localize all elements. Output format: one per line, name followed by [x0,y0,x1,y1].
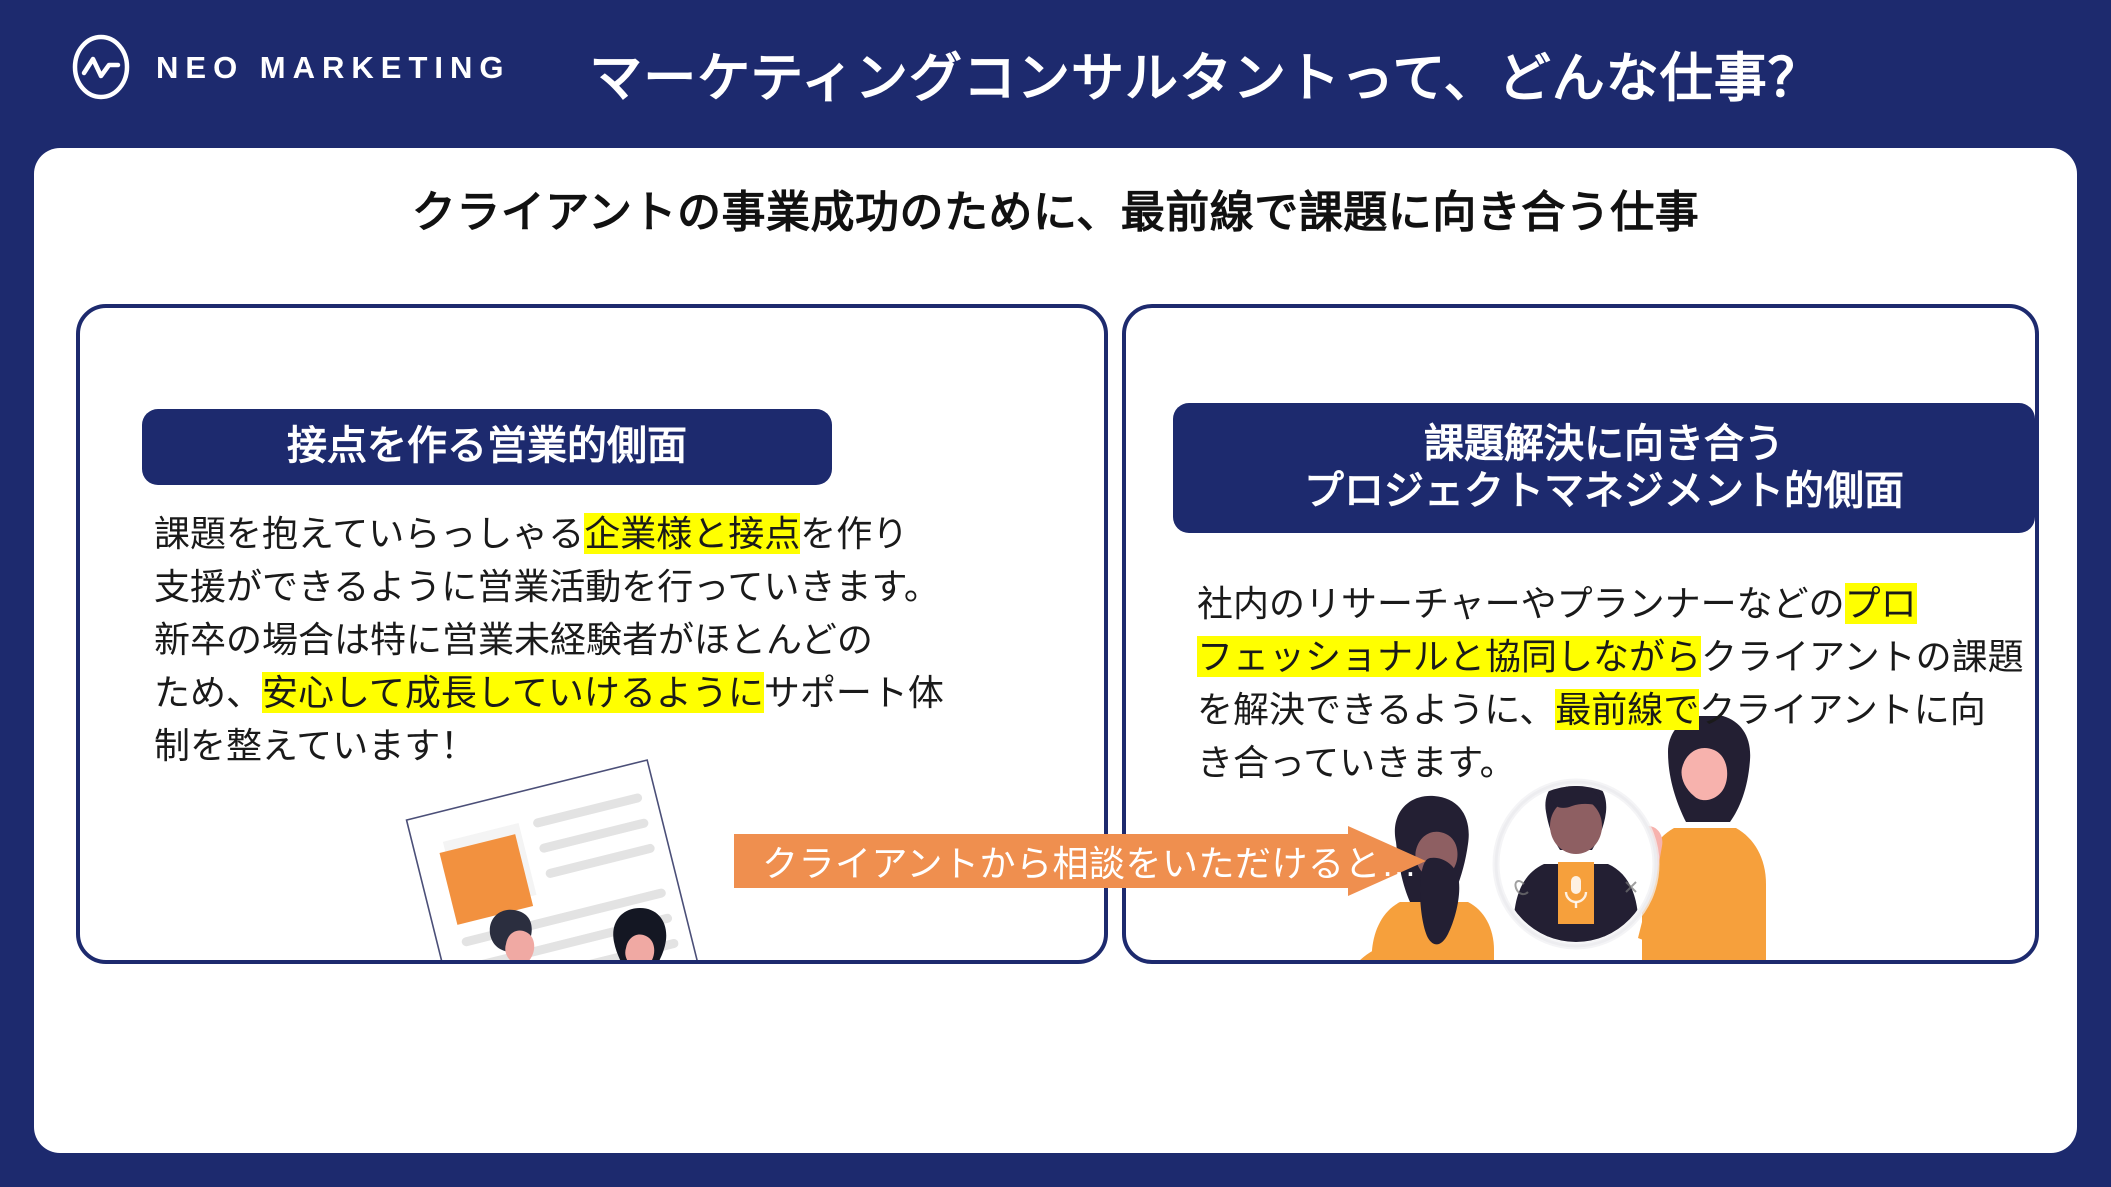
body-text-run: を作り [800,513,908,554]
body-text-run: クライアントの課題 [1701,636,2024,677]
footer-caption-line1: 接点を作るところからプロジェクトの伴走まで一気通貫で対応するからこそ [34,1183,2077,1187]
page-title: マーケティングコンサルタントって、どんな仕事？ [0,0,2111,148]
badge-sales-aspect: 接点を作る営業的側面 [142,409,832,485]
badge-pm-label-line2: プロジェクトマネジメント的側面 [1304,468,1904,515]
footer-caption: 接点を作るところからプロジェクトの伴走まで一気通貫で対応するからこそ やりがいを… [34,1183,2077,1187]
arrow-banner-label: クライアントから相談をいただけると… [762,826,1418,896]
body-line: フェッショナルと協同しながらクライアントの課題 [1197,631,2024,684]
body-text-run: 制を整えています！ [154,725,476,766]
badge-sales-label: 接点を作る営業的側面 [287,423,687,470]
body-line: を解決できるように、最前線でクライアントに向 [1197,684,2024,737]
body-text-run: 新卒の場合は特に営業未経験者がほとんどの [154,619,873,660]
badge-pm-aspect: 課題解決に向き合う プロジェクトマネジメント的側面 [1173,403,2035,533]
highlighted-text: 企業様と接点 [584,513,800,554]
body-text-run: き合っていきます。 [1197,742,1516,783]
body-line: 制を整えています！ [154,720,944,773]
body-line: き合っていきます。 [1197,737,2024,790]
card-subtitle: クライアントの事業成功のために、最前線で課題に向き合う仕事 [34,176,2077,240]
body-text-run: を解決できるように、 [1197,689,1555,730]
slide-header: NEO MARKETING マーケティングコンサルタントって、どんな仕事？ [0,0,2111,148]
body-text-run: 課題を抱えていらっしゃる [154,513,584,554]
content-card: クライアントの事業成功のために、最前線で課題に向き合う仕事 [34,148,2077,1153]
highlighted-text: プロ [1845,583,1917,624]
highlighted-text: 最前線で [1555,689,1699,730]
body-line: 支援ができるように営業活動を行っていきます。 [154,561,944,614]
body-line: 社内のリサーチャーやプランナーなどのプロ [1197,578,2024,631]
arrow-banner: クライアントから相談をいただけると… [734,826,1426,896]
body-text-run: 社内のリサーチャーやプランナーなどの [1197,583,1845,624]
body-text-run: 支援ができるように営業活動を行っていきます。 [154,566,940,607]
body-line: 新卒の場合は特に営業未経験者がほとんどの [154,614,944,667]
body-line: 課題を抱えていらっしゃる企業様と接点を作り [154,508,944,561]
body-text-run: ため、 [154,672,262,713]
body-line: ため、安心して成長していけるようにサポート体 [154,667,944,720]
highlighted-text: フェッショナルと協同しながら [1197,636,1701,677]
body-text-run: クライアントに向 [1699,689,1986,730]
panel-right-body: 社内のリサーチャーやプランナーなどのプロフェッショナルと協同しながらクライアント… [1197,578,2024,790]
panel-left-body: 課題を抱えていらっしゃる企業様と接点を作り支援ができるように営業活動を行っていき… [154,508,944,773]
highlighted-text: 安心して成長していけるように [262,672,764,713]
body-text-run: サポート体 [764,672,944,713]
slide-root: NEO MARKETING マーケティングコンサルタントって、どんな仕事？ クラ… [0,0,2111,1187]
contract-handshake-illustration [378,752,758,964]
badge-pm-label-line1: 課題解決に向き合う [1424,421,1784,468]
